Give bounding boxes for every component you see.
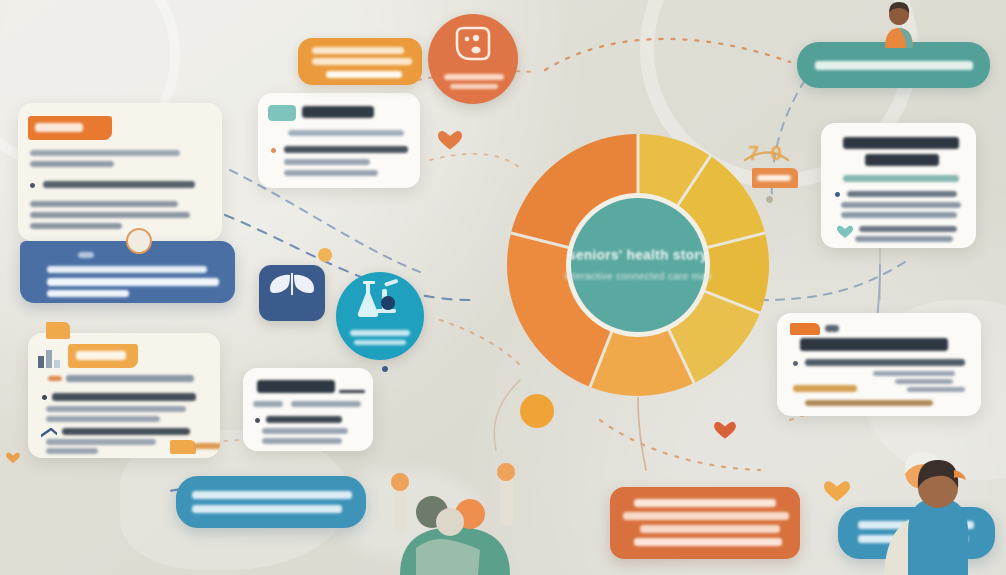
focus-area-bullet-marker (42, 395, 47, 400)
statistics-card-bullet-2-sub (907, 387, 965, 392)
statistics-card-bullet-1-line (805, 359, 965, 366)
focus-area-bullet-3-line (46, 439, 156, 445)
statistics-card-bullet-1-sub (873, 371, 955, 376)
growth-card-bullet-1-line-2 (841, 202, 961, 208)
priority-card-bullet-1-line (43, 181, 195, 188)
orange-takeaway-line-1 (634, 499, 776, 507)
metabolic-card-subtitle-line (253, 401, 283, 407)
badge-icon (126, 228, 152, 254)
solid-connector (638, 398, 646, 470)
focus-area-subtitle-line (48, 376, 62, 381)
priority-card-bullet-2-line (30, 201, 178, 207)
weak-points-bullet-2: Transfer delays raise readmission (258, 93, 259, 94)
blue-summary-line-0 (78, 252, 94, 258)
top-orange-banner-line (312, 47, 404, 54)
weak-points-bullet-1-line (284, 146, 408, 153)
weak-points-subtitle-line (288, 130, 404, 136)
focus-area-bullet-1-sub-2 (46, 416, 160, 422)
metabolic-card-heading-line (257, 380, 335, 393)
dotted-connector (600, 420, 760, 470)
dashed-connector (760, 262, 905, 300)
blue-summary-line-3 (47, 290, 129, 297)
growth-card[interactable]: Health Screening and Outcomes Key indica… (821, 123, 976, 248)
cell-node-label: Cell and tissue level diagnostics (428, 14, 429, 15)
focus-area-bullet-1-line (52, 393, 196, 401)
arrow-icon (41, 428, 57, 438)
priority-card-bullet-2-line-2 (30, 212, 190, 218)
growth-card-subtitle-line (843, 175, 959, 182)
blue-outcome-banner-text: Improved outcomes where screening, treat… (176, 476, 177, 477)
orange-takeaway-banner[interactable]: Knowledge is the best medicine: understa… (610, 487, 800, 559)
growth-card-heading-line (843, 137, 959, 149)
focus-area-corner-sticky (46, 322, 70, 339)
growth-card-bullet-2-line-2 (855, 236, 953, 242)
metabolic-card-bullet-1-line (266, 416, 342, 423)
growth-card-heading-line-2 (865, 154, 939, 166)
statistics-card[interactable]: In seniors over 70 years, 2 in 2016 Scre… (777, 313, 981, 416)
weak-points-card[interactable]: Weak points Gaps in treatment adherence … (258, 93, 420, 188)
lab-node-label-line (350, 330, 410, 336)
top-orange-banner-emphasis: Read more in the documentation (298, 38, 299, 39)
heart-icon (714, 421, 736, 440)
cell-node-label-line-2 (450, 84, 498, 89)
weak-points-bullet-2-line (284, 170, 378, 176)
growth-card-bullet-2: Care teams report improved access to hom… (821, 123, 822, 124)
orange-takeaway-line-2 (623, 512, 789, 520)
heart-icon (837, 225, 853, 239)
statistics-card-tag (790, 323, 820, 335)
teal-intro-banner-text: Introduction to caregiving and health mo… (797, 42, 798, 43)
priority-card-bullet-2-line-3 (30, 223, 122, 229)
orange-takeaway-banner-text: Knowledge is the best medicine: understa… (610, 487, 611, 488)
weak-points-heading-tag (268, 105, 296, 121)
top-orange-banner-line-2 (312, 58, 412, 65)
balloon-icon (520, 394, 554, 428)
priority-card-bullet-marker (30, 183, 35, 188)
lungs-icon (269, 273, 315, 301)
priority-card-bullet-2: Coordinated annual visits reduce avoidab… (18, 103, 19, 104)
lab-research-node[interactable]: Lab research and sample analysis (336, 272, 424, 360)
infographic-canvas: Priority Annual screenings highlight pre… (0, 0, 1006, 575)
orange-takeaway-line-4 (634, 538, 782, 546)
growth-card-bullet-1-line (847, 191, 957, 197)
cell-node-label-line (444, 74, 504, 80)
blue-outcome-line-2 (192, 505, 342, 513)
metabolic-card-bullet-2-line-2 (262, 438, 342, 444)
blue-summary-banner[interactable]: Older populations report more chronic co… (20, 241, 235, 303)
focus-area-bullet-3-line-2 (46, 448, 98, 454)
priority-card-heading-text (35, 123, 83, 132)
growth-card-bullet-marker (835, 192, 840, 197)
decorative-dot (318, 248, 332, 262)
metabolic-card-subtitle-line-2 (291, 401, 361, 407)
statistics-card-bullet-3-line (805, 400, 933, 406)
cell-biology-node[interactable]: Cell and tissue level diagnostics (428, 14, 518, 104)
teal-intro-banner-line (815, 61, 973, 70)
focus-area-footnote-line (194, 443, 220, 449)
heart-icon (438, 130, 462, 151)
focus-area-subtitle-line-2 (66, 375, 194, 382)
metabolic-card[interactable]: Metabolism & Annual, Chronic, Lifestyle … (243, 368, 373, 451)
blue-outcome-banner[interactable]: Improved outcomes where screening, treat… (176, 476, 366, 528)
focus-area-bullet-2-line (62, 428, 190, 435)
statistics-card-bullet-2-line (793, 385, 857, 392)
focus-area-heading-text (76, 351, 126, 360)
chart-bars-icon (38, 346, 66, 368)
blue-summary-banner-text: Older populations report more chronic co… (20, 241, 21, 242)
statistics-card-bullet-3: Chronic care management reach improved (777, 313, 778, 314)
weak-points-bullet-marker (271, 148, 276, 153)
priority-card[interactable]: Priority Annual screenings highlight pre… (18, 103, 222, 241)
people-group-illustration (380, 448, 530, 575)
weak-points-bullet-1-line-2 (284, 159, 370, 165)
focus-area-footnote: Mobility Diagnosis (28, 333, 29, 334)
orange-takeaway-line-3 (640, 525, 780, 533)
donut-center-disc (571, 198, 705, 332)
focus-area-bullet-1-sub (46, 406, 186, 412)
donut-segments (505, 132, 771, 398)
growth-card-bullet-2-line (859, 226, 957, 232)
heart-icon-small (824, 480, 850, 503)
microscope-flask-icon (352, 279, 408, 323)
metabolic-card-bullet-marker (255, 418, 260, 423)
blue-community-banner-text: Social and Community connection is a hea… (838, 507, 839, 508)
cell-icon (451, 26, 495, 66)
metabolic-card-bullet-2-line (262, 428, 348, 434)
focus-area-footnote-tag (170, 440, 196, 454)
blue-summary-line-2 (47, 278, 219, 286)
metabolic-card-bullet-2: Mineral intake tracking and supplement f… (243, 368, 244, 369)
decorative-dot (766, 196, 773, 203)
caregiver-illustration (880, 440, 1000, 575)
dotted-connector (545, 39, 790, 70)
weak-points-heading-text (302, 106, 374, 118)
person-illustration (876, 0, 922, 48)
growth-card-bullet-1-line-3 (841, 212, 957, 218)
blue-outcome-line-1 (192, 491, 352, 499)
lab-node-label: Lab research and sample analysis (336, 272, 337, 273)
statistics-card-tag-text (825, 325, 839, 332)
organ-health-node[interactable] (259, 265, 325, 321)
heart-icon-small (6, 452, 20, 464)
top-orange-banner[interactable]: Chronic disease care management and foll… (298, 38, 422, 85)
top-orange-banner-emphasis-line (326, 71, 402, 78)
focus-area-card[interactable]: Focus Area Daily care planning and rehab… (28, 333, 220, 458)
statistics-card-bullet-marker (793, 361, 798, 366)
lab-node-label-line-2 (354, 340, 406, 345)
priority-card-subtitle-line (30, 150, 180, 156)
decorative-dot (382, 366, 388, 372)
blue-summary-line-1 (47, 266, 207, 273)
statistics-card-heading-line (800, 338, 948, 351)
priority-card-subtitle-line-2 (30, 161, 114, 167)
central-donut-chart[interactable]: seniors' health story interactive connec… (505, 132, 771, 398)
teal-intro-banner[interactable]: Introduction to caregiving and health mo… (797, 42, 990, 88)
statistics-card-bullet-1-sub-2 (895, 379, 953, 384)
metabolic-card-heading-underline (339, 390, 365, 393)
